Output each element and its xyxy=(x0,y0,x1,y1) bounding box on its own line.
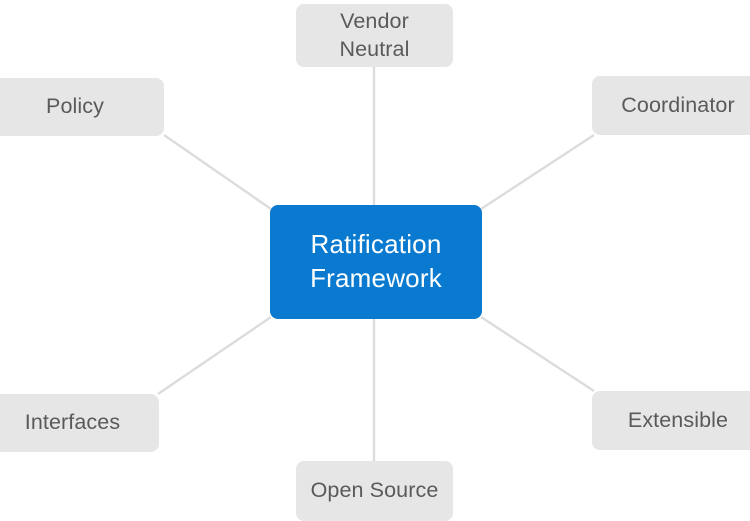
node-vendor-neutral-label: Vendor Neutral xyxy=(333,8,415,63)
node-extensible-label: Extensible xyxy=(622,407,734,435)
node-open-source-label: Open Source xyxy=(305,477,445,505)
connector-hub-extensible xyxy=(481,317,594,391)
node-coordinator-label: Coordinator xyxy=(615,92,740,120)
connector-hub-coordinator xyxy=(481,135,594,209)
connector-hub-policy xyxy=(164,135,271,209)
node-interfaces[interactable]: Interfaces xyxy=(0,394,159,452)
node-extensible[interactable]: Extensible xyxy=(592,391,750,450)
node-vendor-neutral[interactable]: Vendor Neutral xyxy=(296,4,453,67)
diagram-canvas: Vendor Neutral Coordinator Extensible Op… xyxy=(0,0,750,521)
node-policy-label: Policy xyxy=(40,93,110,121)
node-open-source[interactable]: Open Source xyxy=(296,461,453,521)
node-coordinator[interactable]: Coordinator xyxy=(592,76,750,135)
node-interfaces-label: Interfaces xyxy=(19,409,126,437)
node-policy[interactable]: Policy xyxy=(0,78,164,136)
node-hub-ratification-framework[interactable]: Ratification Framework xyxy=(270,205,482,319)
connector-hub-interfaces xyxy=(158,317,271,394)
node-hub-label: Ratification Framework xyxy=(304,228,448,296)
